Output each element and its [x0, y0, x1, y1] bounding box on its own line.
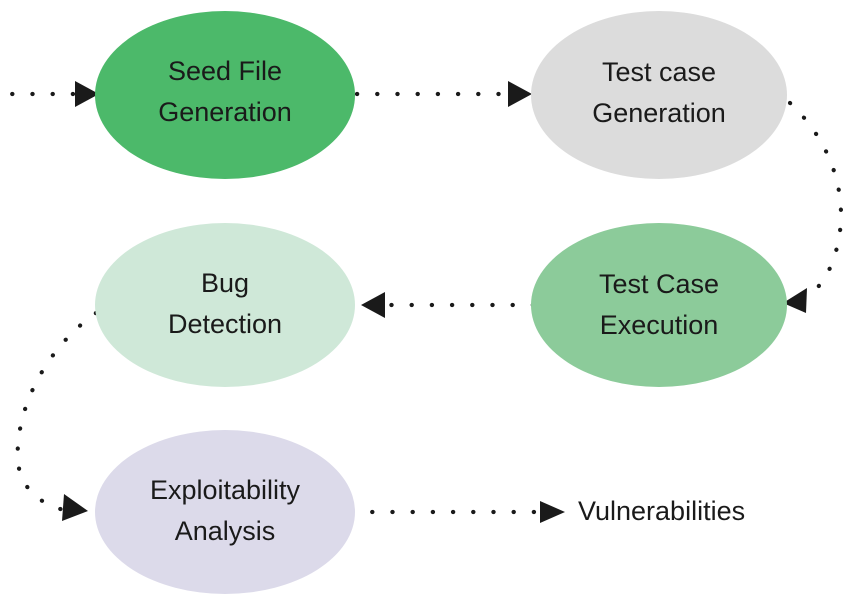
- node-test-case-generation[interactable]: Test case Generation: [531, 11, 787, 179]
- node-exploitability-analysis[interactable]: Exploitability Analysis: [95, 430, 355, 594]
- seed-file-generation-label-line1: Seed File: [168, 56, 282, 86]
- node-bug-detection[interactable]: Bug Detection: [95, 223, 355, 387]
- node-test-case-execution[interactable]: Test Case Execution: [531, 223, 787, 387]
- test-case-generation-label-line2: Generation: [592, 98, 726, 128]
- test-case-execution-label-line2: Execution: [600, 310, 719, 340]
- seed-file-generation-ellipse[interactable]: [95, 11, 355, 179]
- test-case-generation-ellipse[interactable]: [531, 11, 787, 179]
- seed-file-generation-label-line2: Generation: [158, 97, 292, 127]
- flow-diagram-svg: Seed File Generation Test case Generatio…: [0, 0, 853, 599]
- flow-diagram-canvas: Seed File Generation Test case Generatio…: [0, 0, 853, 599]
- bug-detection-ellipse[interactable]: [95, 223, 355, 387]
- test-case-generation-label-line1: Test case: [602, 57, 716, 87]
- bug-detection-label-line2: Detection: [168, 309, 282, 339]
- node-seed-file-generation[interactable]: Seed File Generation: [95, 11, 355, 179]
- bug-detection-label-line1: Bug: [201, 268, 249, 298]
- exploitability-analysis-label-line2: Analysis: [175, 516, 276, 546]
- exploitability-analysis-ellipse[interactable]: [95, 430, 355, 594]
- test-case-execution-label-line1: Test Case: [599, 269, 719, 299]
- exploitability-analysis-label-line1: Exploitability: [150, 475, 301, 505]
- test-case-execution-ellipse[interactable]: [531, 223, 787, 387]
- vulnerabilities-label: Vulnerabilities: [578, 496, 745, 526]
